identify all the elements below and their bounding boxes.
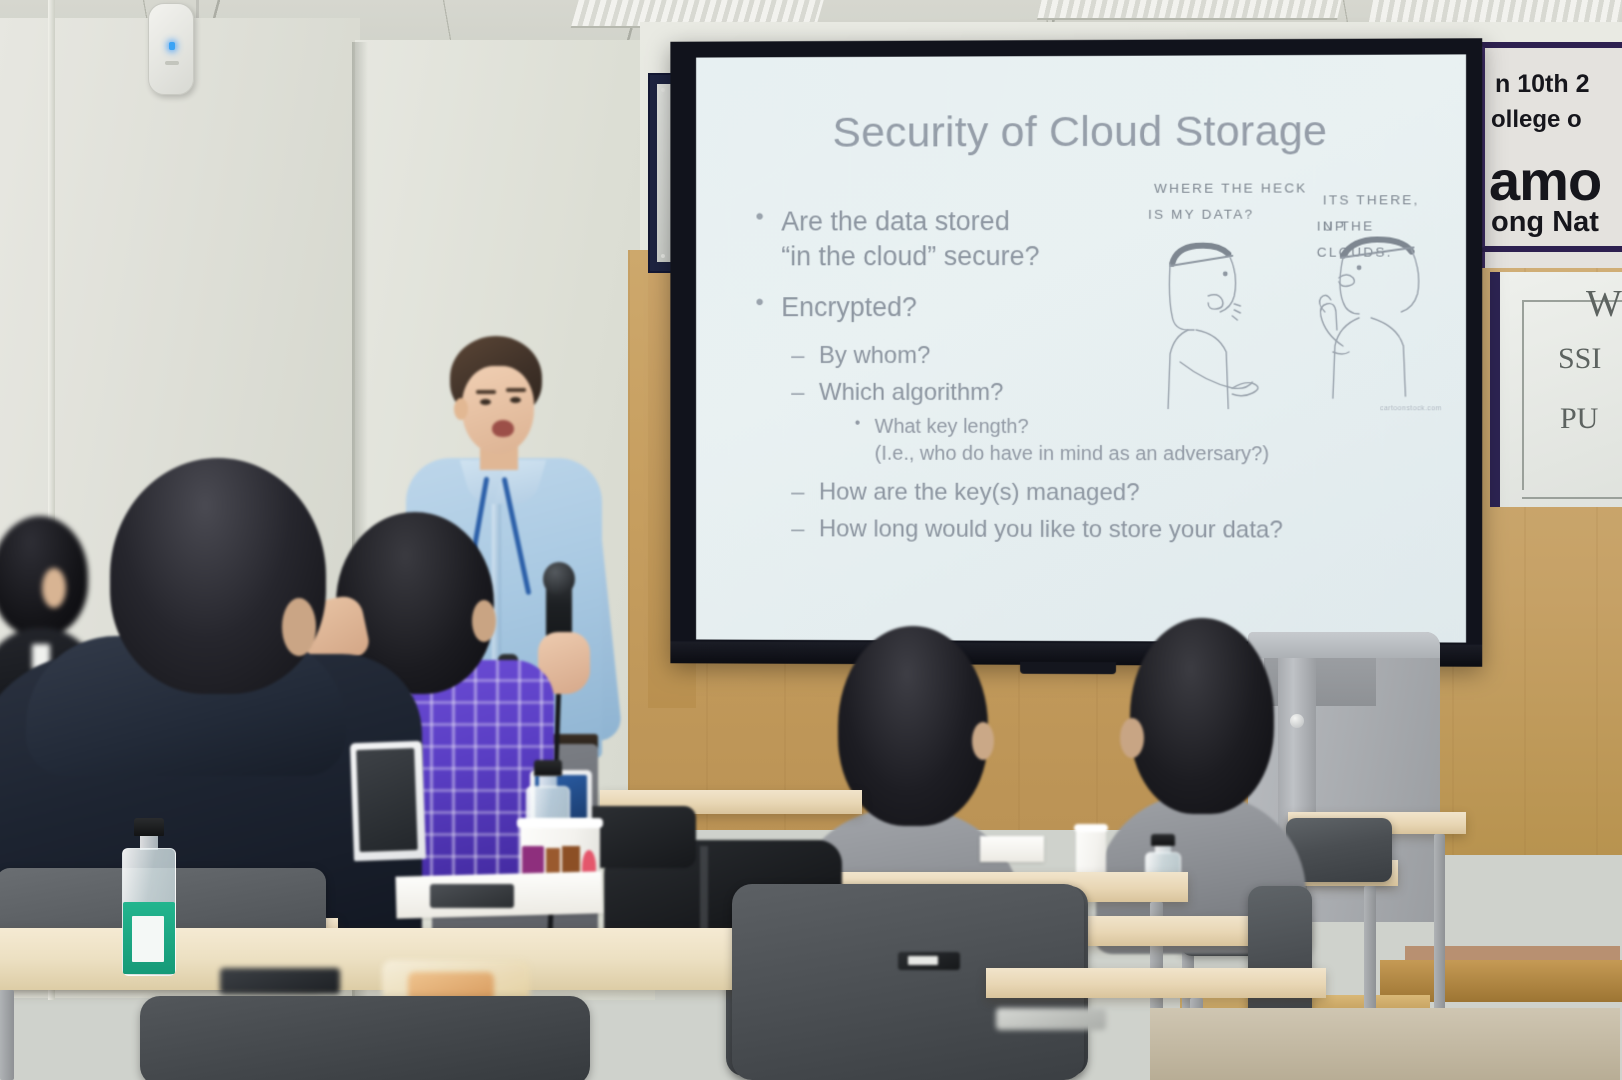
cartoon-two-men-icon: [1146, 233, 1448, 409]
speaker-eye: [510, 397, 521, 403]
speaker-eye: [480, 399, 491, 405]
desk-leg: [1434, 834, 1445, 1034]
whiteboard-text-1: W: [1586, 282, 1622, 326]
bullet-item: Encrypted?: [752, 290, 1181, 325]
cartoon-watermark: cartoonstock.com: [1380, 405, 1442, 412]
laptop-screen: [356, 748, 418, 852]
wifi-access-point-icon: [148, 3, 194, 95]
slide-surface: Security of Cloud Storage Are the data s…: [696, 54, 1466, 642]
object-on-desk[interactable]: [996, 1008, 1106, 1030]
phone-device[interactable]: [430, 884, 514, 908]
whiteboard-drawn-line: [1522, 497, 1622, 499]
cartoon-speech-left-2: IS MY DATA?: [1148, 202, 1254, 228]
bottle-cap: [1151, 834, 1175, 846]
chair-back-foreground[interactable]: [140, 996, 590, 1080]
speaker-face: [462, 366, 534, 454]
attendee-ear: [472, 600, 496, 642]
ceiling-light-panel: [1037, 0, 1343, 20]
vent-slit: [165, 61, 179, 65]
sub-sub-bullet-note: (I.e., who do have in mind as an adversa…: [853, 441, 1371, 469]
water-bottle-green-label[interactable]: [118, 818, 180, 976]
attendee-ear: [972, 722, 994, 760]
status-led-icon: [169, 42, 175, 50]
bottle-cap: [534, 760, 562, 776]
bullet-text-line-a: Are the data stored: [781, 206, 1009, 236]
banner-line-date: n 10th 2: [1495, 70, 1589, 99]
event-banner: n 10th 2 ollege o amo ong Nat: [1476, 42, 1622, 252]
sub-sub-bullet-item: What key length?: [853, 414, 1371, 441]
whiteboard-drawn-box: [1522, 300, 1622, 490]
banner-line-org: ong Nat: [1491, 206, 1599, 239]
attendee-grey-sweater-right: [1096, 618, 1306, 898]
attendee-ear: [282, 598, 316, 656]
speaker-eyebrow: [476, 390, 496, 394]
wifi-cable: [196, 0, 199, 18]
speaker-mouth: [492, 420, 514, 437]
lecture-hall-scene: n 10th 2 ollege o amo ong Nat W SSI PU S…: [0, 0, 1622, 1080]
speaker-eyebrow: [506, 388, 526, 392]
bottle-cap: [134, 818, 164, 836]
slide-bullet-list-level3: What key length? (I.e., who do have in m…: [853, 414, 1371, 468]
banner-line-college: ollege o: [1491, 106, 1582, 134]
whiteboard-text-2: SSI: [1558, 342, 1601, 376]
sub-bullet-item: How long would you like to store your da…: [791, 511, 1371, 550]
laptop-white[interactable]: [350, 741, 426, 861]
screw-icon: [661, 254, 665, 258]
projector-screen: Security of Cloud Storage Are the data s…: [670, 38, 1482, 667]
floor: [1150, 1008, 1620, 1080]
desk-surface: [986, 968, 1326, 998]
cartoon-speech-left-1: WHERE THE HECK: [1154, 175, 1307, 201]
slide-bullet-list-level1: Are the data stored “in the cloud” secur…: [752, 204, 1181, 342]
banner-lower-edge: [1476, 252, 1622, 268]
desk-leg: [0, 990, 14, 1080]
attendee-ear: [1120, 718, 1144, 758]
sub-bullet-item: How are the key(s) managed?: [791, 473, 1371, 511]
attendee-head: [110, 458, 326, 694]
bottle-label-text-area: [132, 916, 164, 962]
banner-line-title: amo: [1489, 148, 1601, 213]
cup-rim: [517, 818, 603, 828]
whiteboard: W SSI PU: [1490, 272, 1622, 507]
speaker-ear: [454, 398, 468, 420]
bullet-text-line-b: “in the cloud” secure?: [781, 241, 1039, 271]
attendee-head: [1130, 618, 1274, 814]
chair-label-text: [908, 956, 938, 965]
screw-icon: [661, 88, 665, 92]
bullet-item: Are the data stored “in the cloud” secur…: [752, 204, 1181, 274]
paper-sheet: [980, 836, 1044, 862]
whiteboard-text-3: PU: [1560, 402, 1598, 436]
cup-rim: [1074, 824, 1108, 832]
pen-or-device[interactable]: [220, 968, 340, 994]
slide-cartoon: WHERE THE HECK IS MY DATA? ITS THERE, UP…: [1146, 175, 1448, 406]
slide-title: Security of Cloud Storage: [696, 107, 1466, 158]
